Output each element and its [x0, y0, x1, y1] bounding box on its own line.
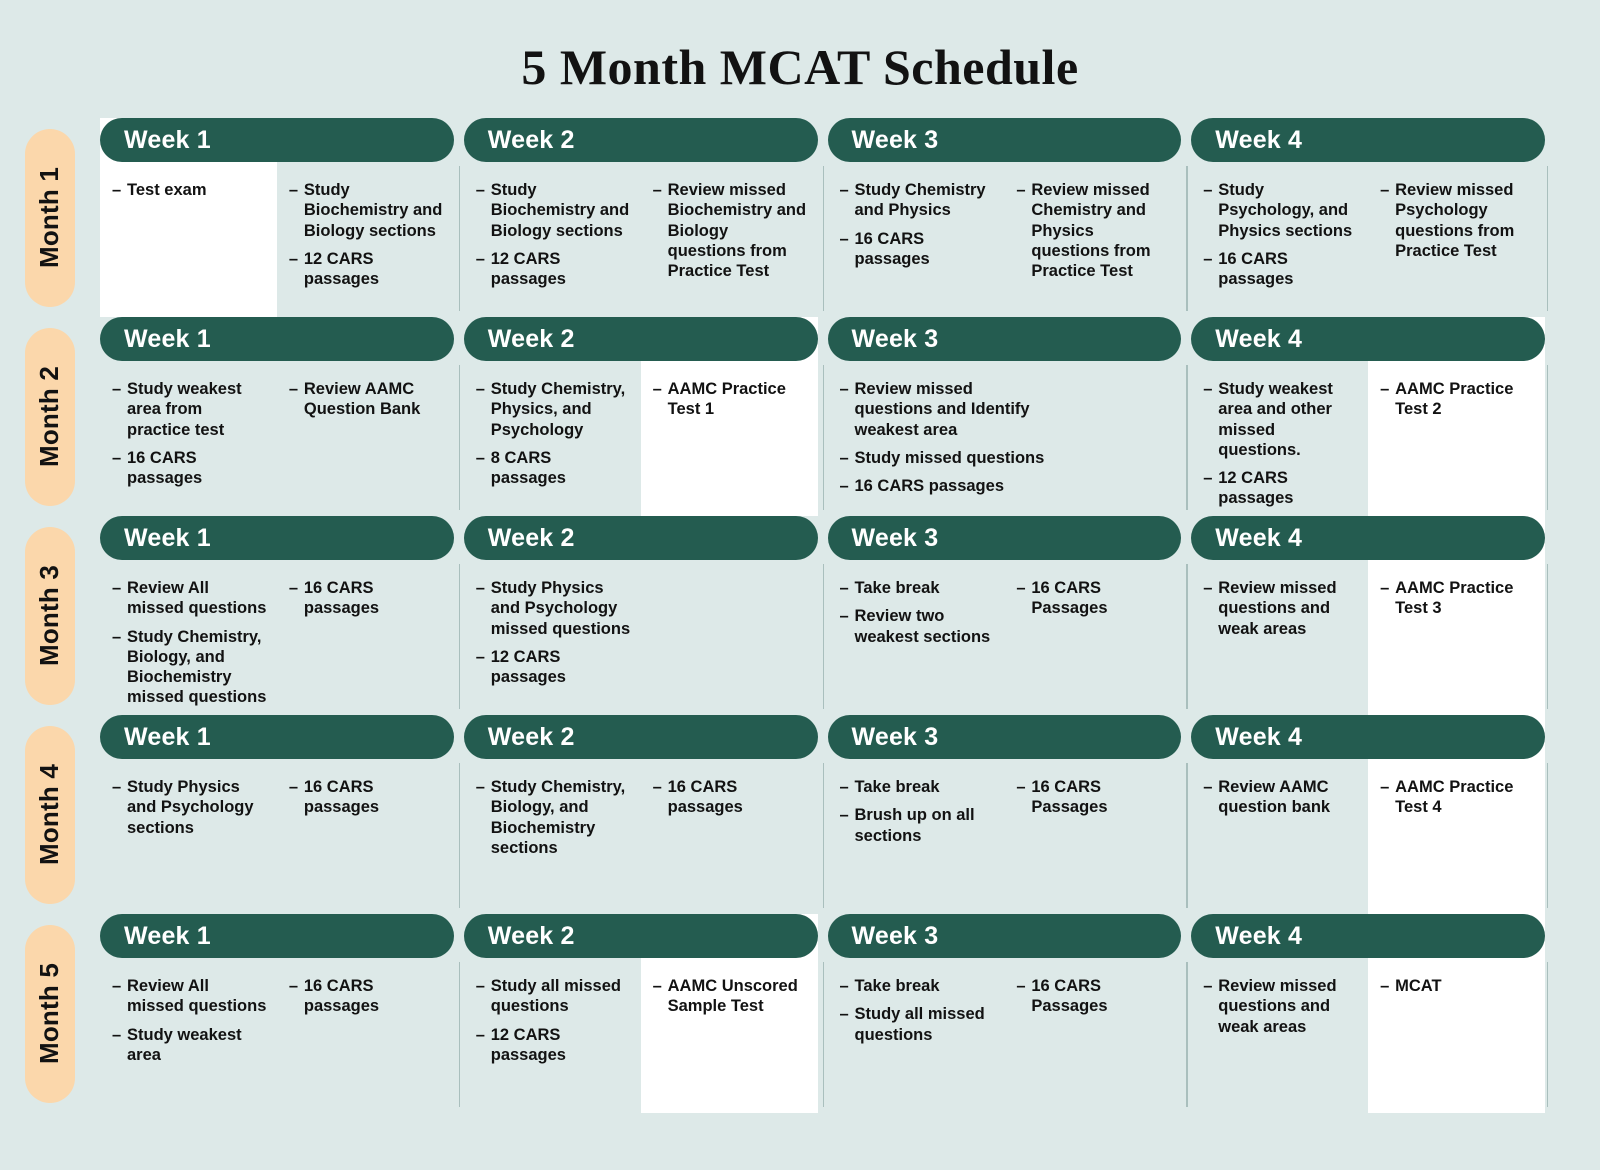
task-item: Take break — [840, 976, 995, 996]
week-task-column: 16 CARS Passages — [1004, 759, 1181, 914]
month-row: Month 4Week 1Study Physics and Psycholog… — [0, 715, 1600, 914]
month-row: Month 5Week 1Review All missed questions… — [0, 914, 1600, 1113]
task-list: Study Chemistry and Physics16 CARS passa… — [840, 180, 995, 269]
task-item: Review two weakest sections — [840, 606, 995, 647]
month-tab-4[interactable]: Month 4 — [25, 726, 75, 904]
week-header[interactable]: Week 4 — [1191, 914, 1545, 958]
week-task-column: Study Chemistry and Physics16 CARS passa… — [828, 162, 1005, 317]
task-list: Review AAMC question bank — [1203, 777, 1358, 818]
week-card: Week 1Study weakest area from practice t… — [100, 317, 454, 516]
task-list: Review missed Biochemistry and Biology q… — [653, 180, 808, 281]
week-body: Take breakBrush up on all sections16 CAR… — [828, 759, 1182, 914]
week-header[interactable]: Week 1 — [100, 317, 454, 361]
week-body: Test examStudy Biochemistry and Biology … — [100, 162, 454, 317]
row-right-divider — [1547, 962, 1549, 1107]
task-list: Study Chemistry, Physics, and Psychology… — [476, 379, 631, 488]
task-item: AAMC Practice Test 4 — [1380, 777, 1535, 818]
task-list: Review AAMC Question Bank — [289, 379, 444, 420]
weeks-container: Week 1Study weakest area from practice t… — [100, 317, 1600, 516]
week-card: Week 4Review missed questions and weak a… — [1191, 516, 1545, 715]
task-item: 12 CARS passages — [289, 249, 444, 290]
task-item: AAMC Unscored Sample Test — [653, 976, 808, 1017]
week-task-column: Study Biochemistry and Biology sections1… — [277, 162, 454, 317]
week-body: Study Biochemistry and Biology sections1… — [464, 162, 818, 317]
weeks-container: Week 1Review All missed questionsStudy C… — [100, 516, 1600, 715]
week-task-column: Study Physics and Psychology sections — [100, 759, 277, 914]
week-task-column: Review missed Biochemistry and Biology q… — [641, 162, 818, 317]
task-item: Review missed Biochemistry and Biology q… — [653, 180, 808, 281]
week-task-column: Review AAMC question bank — [1191, 759, 1368, 914]
week-task-column: Study Biochemistry and Biology sections1… — [464, 162, 641, 317]
week-task-column: Study Psychology, and Physics sections16… — [1191, 162, 1368, 317]
week-task-column: Review missed Chemistry and Physics ques… — [1004, 162, 1181, 317]
task-list: Study Biochemistry and Biology sections1… — [476, 180, 631, 289]
week-card: Week 3Review missed questions and Identi… — [828, 317, 1182, 516]
task-list: Review All missed questionsStudy Chemist… — [112, 578, 267, 708]
week-header[interactable]: Week 4 — [1191, 317, 1545, 361]
task-list: AAMC Practice Test 1 — [653, 379, 808, 420]
task-item: 16 CARS passages — [289, 976, 444, 1017]
week-task-column: Take breakReview two weakest sections — [828, 560, 1005, 715]
week-header[interactable]: Week 1 — [100, 914, 454, 958]
week-body: Review missed questions and weak areasMC… — [1191, 958, 1545, 1113]
week-body: Study Chemistry and Physics16 CARS passa… — [828, 162, 1182, 317]
week-task-column: Review missed questions and weak areas — [1191, 560, 1368, 715]
task-item: 16 CARS passages — [840, 476, 1055, 496]
month-label: Month 4 — [35, 764, 66, 865]
week-header[interactable]: Week 1 — [100, 516, 454, 560]
task-list: MCAT — [1380, 976, 1535, 996]
task-item: Test exam — [112, 180, 267, 200]
week-card: Week 3Take breakReview two weakest secti… — [828, 516, 1182, 715]
task-list: Study Physics and Psychology missed ques… — [476, 578, 631, 687]
month-label: Month 3 — [35, 565, 66, 666]
week-task-column: Take breakBrush up on all sections — [828, 759, 1005, 914]
month-tab-wrapper: Month 1 — [0, 118, 100, 317]
task-list: Review missed Chemistry and Physics ques… — [1016, 180, 1171, 281]
task-list: Study Chemistry, Biology, and Biochemist… — [476, 777, 631, 858]
week-body: Take breakReview two weakest sections16 … — [828, 560, 1182, 715]
task-item: Study Chemistry, Physics, and Psychology — [476, 379, 631, 440]
task-item: Review AAMC Question Bank — [289, 379, 444, 420]
week-task-column: 16 CARS passages — [641, 759, 818, 914]
week-card: Week 2Study Chemistry, Physics, and Psyc… — [464, 317, 818, 516]
week-task-column: Take breakStudy all missed questions — [828, 958, 1005, 1113]
weeks-container: Week 1Review All missed questionsStudy w… — [100, 914, 1600, 1113]
week-task-column: Study weakest area and other missed ques… — [1191, 361, 1368, 516]
week-task-column: Review AAMC Question Bank — [277, 361, 454, 516]
week-body: Take breakStudy all missed questions16 C… — [828, 958, 1182, 1113]
week-card: Week 4Review missed questions and weak a… — [1191, 914, 1545, 1113]
weeks-container: Week 1Test examStudy Biochemistry and Bi… — [100, 118, 1600, 317]
week-card: Week 1Study Physics and Psychology secti… — [100, 715, 454, 914]
week-task-column: Review All missed questionsStudy weakest… — [100, 958, 277, 1113]
week-header[interactable]: Week 2 — [464, 118, 818, 162]
task-item: AAMC Practice Test 3 — [1380, 578, 1535, 619]
week-card: Week 4Study weakest area and other misse… — [1191, 317, 1545, 516]
week-header[interactable]: Week 2 — [464, 516, 818, 560]
task-item: Study all missed questions — [840, 1004, 995, 1045]
task-item: Study Chemistry and Physics — [840, 180, 995, 221]
weeks-container: Week 1Study Physics and Psychology secti… — [100, 715, 1600, 914]
task-item: 12 CARS passages — [1203, 468, 1358, 509]
week-header[interactable]: Week 2 — [464, 317, 818, 361]
week-body: Review missed questions and Identify wea… — [828, 361, 1182, 516]
task-item: Review missed questions and weak areas — [1203, 578, 1358, 639]
task-item: Review missed Psychology questions from … — [1380, 180, 1535, 261]
month-row: Month 3Week 1Review All missed questions… — [0, 516, 1600, 715]
week-task-column: Study Physics and Psychology missed ques… — [464, 560, 641, 715]
task-item: Study weakest area — [112, 1025, 267, 1066]
week-header[interactable]: Week 4 — [1191, 715, 1545, 759]
week-body: Study Physics and Psychology sections16 … — [100, 759, 454, 914]
week-card: Week 3Take breakStudy all missed questio… — [828, 914, 1182, 1113]
task-item: Take break — [840, 777, 995, 797]
week-body: Study all missed questions12 CARS passag… — [464, 958, 818, 1113]
month-tab-wrapper: Month 3 — [0, 516, 100, 715]
task-list: Study weakest area from practice test16 … — [112, 379, 267, 488]
week-task-column: Review missed questions and Identify wea… — [828, 361, 1182, 516]
task-item: 16 CARS Passages — [1016, 777, 1171, 818]
task-item: Study all missed questions — [476, 976, 631, 1017]
task-list: 16 CARS Passages — [1016, 976, 1171, 1017]
task-list: AAMC Practice Test 2 — [1380, 379, 1535, 420]
month-tab-2[interactable]: Month 2 — [25, 328, 75, 506]
week-body: Study weakest area and other missed ques… — [1191, 361, 1545, 516]
task-list: Review missed questions and weak areas — [1203, 976, 1358, 1037]
month-tab-5[interactable]: Month 5 — [25, 925, 75, 1103]
task-item: 12 CARS passages — [476, 1025, 631, 1066]
task-list: Take breakReview two weakest sections — [840, 578, 995, 647]
month-tab-1[interactable]: Month 1 — [25, 129, 75, 307]
task-list: 16 CARS passages — [289, 777, 444, 818]
week-card: Week 2Study all missed questions12 CARS … — [464, 914, 818, 1113]
week-task-column: Review missed Psychology questions from … — [1368, 162, 1545, 317]
month-tab-wrapper: Month 4 — [0, 715, 100, 914]
month-row: Month 2Week 1Study weakest area from pra… — [0, 317, 1600, 516]
week-task-column: Study all missed questions12 CARS passag… — [464, 958, 641, 1113]
week-header[interactable]: Week 2 — [464, 914, 818, 958]
task-item: 16 CARS passages — [1203, 249, 1358, 290]
week-task-column: Study Chemistry, Physics, and Psychology… — [464, 361, 641, 516]
week-body: Study Physics and Psychology missed ques… — [464, 560, 818, 715]
task-list: AAMC Practice Test 3 — [1380, 578, 1535, 619]
week-task-column: Study weakest area from practice test16 … — [100, 361, 277, 516]
week-body: Review missed questions and weak areasAA… — [1191, 560, 1545, 715]
week-header[interactable]: Week 3 — [828, 715, 1182, 759]
week-card: Week 1Review All missed questionsStudy w… — [100, 914, 454, 1113]
week-card: Week 4Study Psychology, and Physics sect… — [1191, 118, 1545, 317]
task-list: Study all missed questions12 CARS passag… — [476, 976, 631, 1065]
week-header[interactable]: Week 3 — [828, 317, 1182, 361]
schedule-grid: Month 1Week 1Test examStudy Biochemistry… — [0, 118, 1600, 1113]
week-body: Review All missed questionsStudy Chemist… — [100, 560, 454, 715]
week-task-column: 16 CARS passages — [277, 958, 454, 1113]
week-card: Week 4Review AAMC question bankAAMC Prac… — [1191, 715, 1545, 914]
week-header[interactable]: Week 3 — [828, 516, 1182, 560]
task-item: 16 CARS Passages — [1016, 578, 1171, 619]
task-item: Review All missed questions — [112, 976, 267, 1017]
task-list: Study Psychology, and Physics sections16… — [1203, 180, 1358, 289]
week-body: Study weakest area from practice test16 … — [100, 361, 454, 516]
task-list: Study Biochemistry and Biology sections1… — [289, 180, 444, 289]
task-list: Take breakStudy all missed questions — [840, 976, 995, 1045]
task-item: Study Psychology, and Physics sections — [1203, 180, 1358, 241]
task-item: 12 CARS passages — [476, 647, 631, 688]
week-header[interactable]: Week 4 — [1191, 118, 1545, 162]
month-label: Month 1 — [35, 167, 66, 268]
task-list: AAMC Practice Test 4 — [1380, 777, 1535, 818]
month-tab-wrapper: Month 5 — [0, 914, 100, 1113]
week-header[interactable]: Week 3 — [828, 118, 1182, 162]
row-right-divider — [1547, 365, 1549, 510]
month-row: Month 1Week 1Test examStudy Biochemistry… — [0, 118, 1600, 317]
task-list: Review missed questions and Identify wea… — [840, 379, 1172, 496]
task-item: 16 CARS passages — [112, 448, 267, 489]
task-list: Review missed questions and weak areas — [1203, 578, 1358, 639]
week-header[interactable]: Week 2 — [464, 715, 818, 759]
task-list: AAMC Unscored Sample Test — [653, 976, 808, 1017]
week-body: Study Psychology, and Physics sections16… — [1191, 162, 1545, 317]
week-task-column: 16 CARS passages — [277, 560, 454, 715]
task-item: Study Physics and Psychology sections — [112, 777, 267, 838]
task-item: Study weakest area and other missed ques… — [1203, 379, 1358, 460]
task-list: Take breakBrush up on all sections — [840, 777, 995, 846]
row-right-divider — [1547, 564, 1549, 709]
task-list: Test exam — [112, 180, 267, 200]
row-right-divider — [1547, 166, 1549, 311]
task-item: AAMC Practice Test 2 — [1380, 379, 1535, 420]
week-header[interactable]: Week 1 — [100, 715, 454, 759]
task-list: Study Physics and Psychology sections — [112, 777, 267, 838]
task-list: 16 CARS passages — [289, 976, 444, 1017]
task-item: 8 CARS passages — [476, 448, 631, 489]
task-item: 16 CARS passages — [289, 578, 444, 619]
task-list: Review All missed questionsStudy weakest… — [112, 976, 267, 1065]
week-task-column: 16 CARS Passages — [1004, 958, 1181, 1113]
task-item: Study Chemistry, Biology, and Biochemist… — [476, 777, 631, 858]
page-title: 5 Month MCAT Schedule — [0, 0, 1600, 118]
week-body: Study Chemistry, Physics, and Psychology… — [464, 361, 818, 516]
task-item: AAMC Practice Test 1 — [653, 379, 808, 420]
task-list: Study weakest area and other missed ques… — [1203, 379, 1358, 509]
task-item: Study Chemistry, Biology, and Biochemist… — [112, 627, 267, 708]
task-item: MCAT — [1380, 976, 1535, 996]
week-body: Review All missed questionsStudy weakest… — [100, 958, 454, 1113]
week-card: Week 3Study Chemistry and Physics16 CARS… — [828, 118, 1182, 317]
task-list: 16 CARS Passages — [1016, 777, 1171, 818]
month-tab-3[interactable]: Month 3 — [25, 527, 75, 705]
task-item: 12 CARS passages — [476, 249, 631, 290]
task-item: 16 CARS passages — [840, 229, 995, 270]
week-body: Study Chemistry, Biology, and Biochemist… — [464, 759, 818, 914]
week-card: Week 2Study Physics and Psychology misse… — [464, 516, 818, 715]
task-item: Brush up on all sections — [840, 805, 995, 846]
row-right-divider — [1547, 763, 1549, 908]
month-label: Month 2 — [35, 366, 66, 467]
task-item: 16 CARS Passages — [1016, 976, 1171, 1017]
week-header[interactable]: Week 1 — [100, 118, 454, 162]
task-item: Review missed questions and weak areas — [1203, 976, 1358, 1037]
week-header[interactable]: Week 3 — [828, 914, 1182, 958]
task-item: 16 CARS passages — [289, 777, 444, 818]
week-task-column: 16 CARS Passages — [1004, 560, 1181, 715]
task-item: Review missed Chemistry and Physics ques… — [1016, 180, 1171, 281]
month-label: Month 5 — [35, 963, 66, 1064]
task-item: Study Biochemistry and Biology sections — [476, 180, 631, 241]
task-item: Study weakest area from practice test — [112, 379, 267, 440]
week-card: Week 1Test examStudy Biochemistry and Bi… — [100, 118, 454, 317]
task-item: Study Physics and Psychology missed ques… — [476, 578, 631, 639]
month-tab-wrapper: Month 2 — [0, 317, 100, 516]
week-body: Review AAMC question bankAAMC Practice T… — [1191, 759, 1545, 914]
week-card: Week 2Study Biochemistry and Biology sec… — [464, 118, 818, 317]
week-card: Week 3Take breakBrush up on all sections… — [828, 715, 1182, 914]
task-item: Review AAMC question bank — [1203, 777, 1358, 818]
task-list: 16 CARS passages — [289, 578, 444, 619]
week-task-column: Review missed questions and weak areas — [1191, 958, 1368, 1113]
task-item: Study Biochemistry and Biology sections — [289, 180, 444, 241]
week-task-column: Study Chemistry, Biology, and Biochemist… — [464, 759, 641, 914]
task-item: Study missed questions — [840, 448, 1055, 468]
task-list: 16 CARS passages — [653, 777, 808, 818]
task-item: 16 CARS passages — [653, 777, 808, 818]
task-list: Review missed Psychology questions from … — [1380, 180, 1535, 261]
task-item: Take break — [840, 578, 995, 598]
week-header[interactable]: Week 4 — [1191, 516, 1545, 560]
week-card: Week 1Review All missed questionsStudy C… — [100, 516, 454, 715]
week-card: Week 2Study Chemistry, Biology, and Bioc… — [464, 715, 818, 914]
task-list: 16 CARS Passages — [1016, 578, 1171, 619]
week-task-column: 16 CARS passages — [277, 759, 454, 914]
task-item: Review All missed questions — [112, 578, 267, 619]
week-task-column — [641, 560, 818, 715]
week-task-column: Review All missed questionsStudy Chemist… — [100, 560, 277, 715]
task-item: Review missed questions and Identify wea… — [840, 379, 1055, 440]
